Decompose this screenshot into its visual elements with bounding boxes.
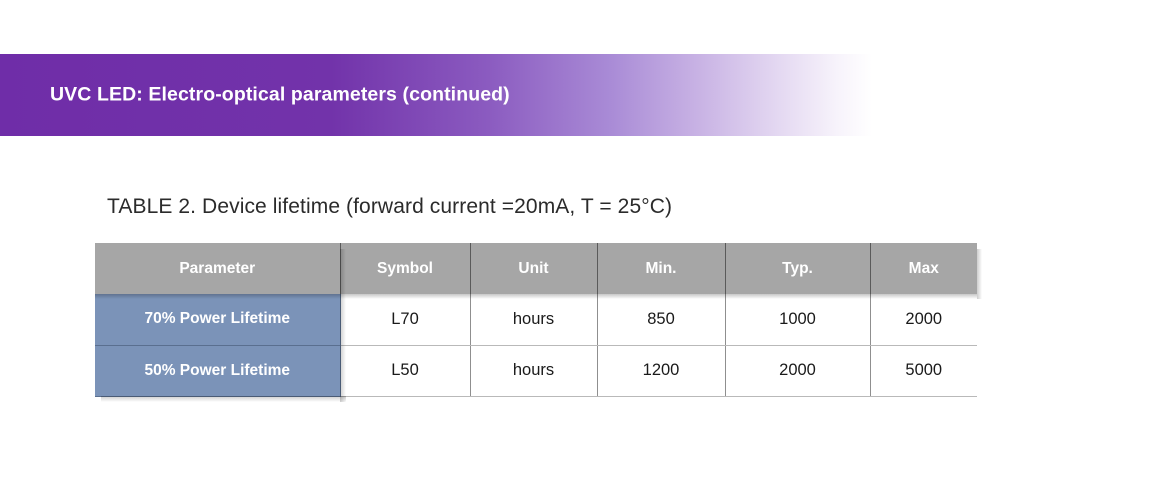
parameter-column-bottom-shadow xyxy=(101,396,346,402)
cell-unit: hours xyxy=(470,294,597,345)
device-lifetime-table: Parameter Symbol Unit Min. Typ. Max 70% … xyxy=(95,243,977,397)
table-row: 50% Power Lifetime L50 hours 1200 2000 5… xyxy=(95,345,977,396)
cell-typ: 2000 xyxy=(725,345,870,396)
cell-parameter: 50% Power Lifetime xyxy=(95,345,340,396)
cell-min: 1200 xyxy=(597,345,725,396)
cell-max: 5000 xyxy=(870,345,977,396)
header-right-drop-shadow xyxy=(977,249,982,299)
cell-typ: 1000 xyxy=(725,294,870,345)
banner-title: UVC LED: Electro-optical parameters (con… xyxy=(50,84,510,107)
column-header-min: Min. xyxy=(597,243,725,294)
cell-unit: hours xyxy=(470,345,597,396)
column-header-max: Max xyxy=(870,243,977,294)
column-header-unit: Unit xyxy=(470,243,597,294)
cell-min: 850 xyxy=(597,294,725,345)
cell-symbol: L70 xyxy=(340,294,470,345)
column-header-typ: Typ. xyxy=(725,243,870,294)
section-banner: UVC LED: Electro-optical parameters (con… xyxy=(0,54,872,136)
table-header-row: Parameter Symbol Unit Min. Typ. Max xyxy=(95,243,977,294)
table-header: Parameter Symbol Unit Min. Typ. Max xyxy=(95,243,977,294)
table-body: 70% Power Lifetime L70 hours 850 1000 20… xyxy=(95,294,977,396)
table-row: 70% Power Lifetime L70 hours 850 1000 20… xyxy=(95,294,977,345)
column-header-parameter: Parameter xyxy=(95,243,340,294)
table-caption: TABLE 2. Device lifetime (forward curren… xyxy=(107,195,672,219)
column-header-symbol: Symbol xyxy=(340,243,470,294)
cell-parameter: 70% Power Lifetime xyxy=(95,294,340,345)
cell-symbol: L50 xyxy=(340,345,470,396)
cell-max: 2000 xyxy=(870,294,977,345)
